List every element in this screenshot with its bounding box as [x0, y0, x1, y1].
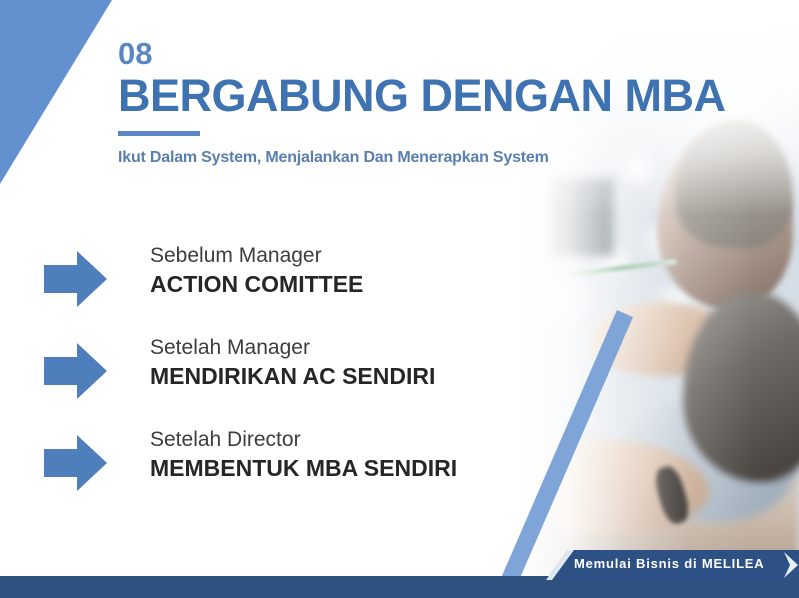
list-item-label: Setelah Director	[150, 427, 457, 453]
list-item-label: Setelah Manager	[150, 335, 435, 361]
slide-subtitle: Ikut Dalam System, Menjalankan Dan Mener…	[118, 149, 726, 167]
list-item-label: Sebelum Manager	[150, 243, 363, 269]
footer-banner-label: Memulai Bisnis di MELILEA	[574, 556, 764, 571]
slide-header: 08 BERGABUNG DENGAN MBA Ikut Dalam Syste…	[118, 38, 726, 167]
list-item-text: Setelah Manager MENDIRIKAN AC SENDIRI	[150, 335, 435, 392]
list-item: Sebelum Manager ACTION COMITTEE	[44, 243, 514, 309]
arrow-right-icon	[44, 341, 108, 401]
list-item: Setelah Manager MENDIRIKAN AC SENDIRI	[44, 335, 514, 401]
arrow-right-icon	[44, 433, 108, 493]
slide-number: 08	[118, 38, 726, 69]
slide-canvas: 08 BERGABUNG DENGAN MBA Ikut Dalam Syste…	[0, 0, 799, 598]
title-underline-rule	[118, 131, 200, 136]
list-item-text: Setelah Director MEMBENTUK MBA SENDIRI	[150, 427, 457, 484]
list-item: Setelah Director MEMBENTUK MBA SENDIRI	[44, 427, 514, 493]
list-item-value: ACTION COMITTEE	[150, 270, 363, 300]
list-item-text: Sebelum Manager ACTION COMITTEE	[150, 243, 363, 300]
slide-title: BERGABUNG DENGAN MBA	[118, 73, 726, 119]
footer-banner: Memulai Bisnis di MELILEA	[546, 550, 799, 580]
arrow-right-icon	[44, 249, 108, 309]
bullet-list: Sebelum Manager ACTION COMITTEE Setelah …	[44, 243, 514, 493]
list-item-value: MENDIRIKAN AC SENDIRI	[150, 362, 435, 392]
list-item-value: MEMBENTUK MBA SENDIRI	[150, 454, 457, 484]
